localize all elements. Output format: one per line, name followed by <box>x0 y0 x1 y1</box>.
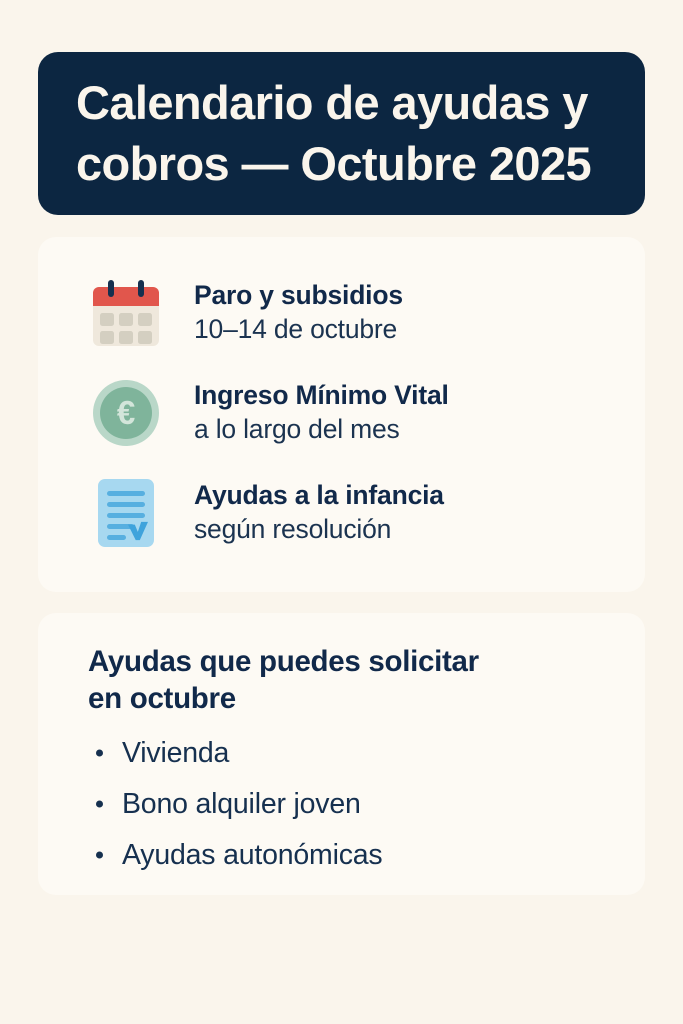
schedule-row-subtitle: a lo largo del mes <box>194 413 449 446</box>
document-text-line <box>107 535 126 540</box>
bullet-icon <box>96 800 103 807</box>
list-item-label: Ayudas autonómicas <box>122 841 382 870</box>
document-text-line <box>107 502 145 507</box>
apply-section-title: Ayudas que puedes solicitar en octubre <box>88 643 611 717</box>
infographic-poster: Calendario de ayudas y cobros — Octubre … <box>0 0 683 1024</box>
document-text-line <box>107 491 145 496</box>
calendar-ring-left <box>108 280 114 297</box>
euro-coin-icon-wrapper: € <box>88 363 164 463</box>
schedule-row-title: Paro y subsidios <box>194 280 403 311</box>
calendar-header-band <box>93 287 159 306</box>
list-item-label: Vivienda <box>122 739 229 768</box>
bullet-icon <box>96 749 103 756</box>
euro-coin-icon: € <box>93 380 159 446</box>
schedule-row-title: Ingreso Mínimo Vital <box>194 380 449 411</box>
document-check-icon <box>98 479 154 547</box>
document-check-icon-wrapper <box>88 463 164 563</box>
page-title: Calendario de ayudas y cobros — Octubre … <box>76 73 607 193</box>
calendar-day-cell <box>119 331 133 344</box>
schedule-row-subtitle: 10–14 de octubre <box>194 313 403 346</box>
calendar-day-grid <box>100 313 152 344</box>
schedule-row-title: Ayudas a la infancia <box>194 480 444 511</box>
euro-coin-inner: € <box>100 387 152 439</box>
calendar-day-cell <box>100 313 114 326</box>
list-item: Vivienda <box>88 727 611 778</box>
calendar-day-cell <box>138 313 152 326</box>
apply-aid-list: Vivienda Bono alquiler joven Ayudas auto… <box>88 727 611 880</box>
payment-schedule-card: Paro y subsidios 10–14 de octubre € Ingr… <box>38 237 645 592</box>
list-item: Bono alquiler joven <box>88 778 611 829</box>
schedule-row-ingreso-minimo-vital: € Ingreso Mínimo Vital a lo largo del me… <box>64 363 619 463</box>
available-aid-card: Ayudas que puedes solicitar en octubre V… <box>38 613 645 895</box>
calendar-day-cell <box>119 313 133 326</box>
calendar-day-cell <box>100 331 114 344</box>
calendar-day-cell <box>138 331 152 344</box>
document-text-line <box>107 513 145 518</box>
header-banner: Calendario de ayudas y cobros — Octubre … <box>38 52 645 215</box>
list-item: Ayudas autonómicas <box>88 829 611 880</box>
checkmark-icon <box>127 521 149 541</box>
schedule-row-text: Paro y subsidios 10–14 de octubre <box>194 263 403 363</box>
calendar-icon <box>93 280 159 346</box>
schedule-row-text: Ingreso Mínimo Vital a lo largo del mes <box>194 363 449 463</box>
schedule-row-paro-subsidios: Paro y subsidios 10–14 de octubre <box>64 263 619 363</box>
bullet-icon <box>96 851 103 858</box>
calendar-icon-wrapper <box>88 263 164 363</box>
calendar-body <box>93 287 159 346</box>
euro-symbol-icon: € <box>117 396 135 429</box>
schedule-row-text: Ayudas a la infancia según resolución <box>194 463 444 563</box>
schedule-row-ayudas-infancia: Ayudas a la infancia según resolución <box>64 463 619 563</box>
list-item-label: Bono alquiler joven <box>122 790 361 819</box>
calendar-ring-right <box>138 280 144 297</box>
schedule-row-subtitle: según resolución <box>194 513 444 546</box>
